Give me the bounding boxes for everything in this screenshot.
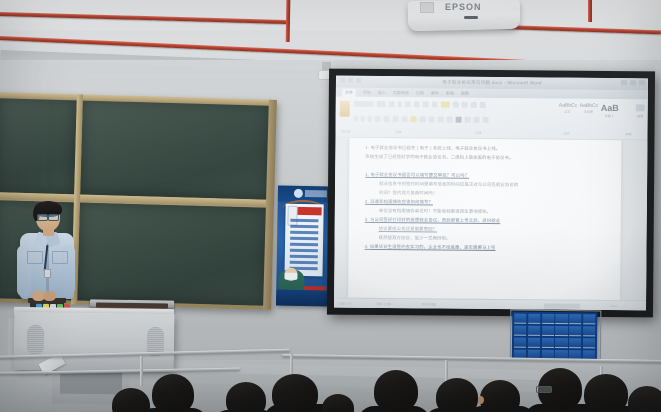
poster-line xyxy=(290,225,318,228)
status-word-count: 字数: 1,286 xyxy=(376,302,391,306)
blackboard-panel xyxy=(77,203,268,306)
poster-clipboard-icon xyxy=(287,206,297,226)
restore-icon[interactable] xyxy=(630,80,636,85)
window-controls[interactable] xyxy=(621,80,645,85)
board-cell xyxy=(541,338,553,349)
minimize-icon[interactable] xyxy=(621,80,627,85)
sprinkler-pipe-vertical xyxy=(588,0,592,22)
doc-heading-text: 派遣和档案接收应该如何填写？ xyxy=(370,199,433,205)
student-head xyxy=(152,374,194,412)
style-heading-1[interactable]: AaB 标题 1 xyxy=(601,103,618,118)
shading-icon[interactable] xyxy=(474,117,480,123)
numbering-icon[interactable] xyxy=(423,101,429,107)
board-cell xyxy=(555,314,567,325)
board-cell xyxy=(542,314,554,325)
poster-title-band xyxy=(298,207,322,215)
board-cell xyxy=(555,326,567,337)
doc-list-number: 1. xyxy=(365,172,369,177)
status-page-info: 页面: 1/3 xyxy=(339,302,351,306)
poster-line xyxy=(290,249,318,252)
poster-logo-icon xyxy=(294,189,303,198)
poster-footer xyxy=(276,290,328,307)
text-highlight-icon[interactable] xyxy=(411,116,417,122)
format-group-row[interactable] xyxy=(354,116,489,123)
tab-view[interactable]: 视图 xyxy=(461,90,469,96)
student-head xyxy=(272,374,318,412)
ribbon[interactable]: AaBbCc 正文 AaBbCc 无间隔 AaB 标题 1 xyxy=(335,97,647,141)
superscript-icon[interactable] xyxy=(393,116,399,122)
jacket-pocket xyxy=(52,251,68,264)
line-spacing-icon[interactable] xyxy=(465,117,471,123)
group-label-paragraph: 段落 xyxy=(476,131,482,135)
student-head xyxy=(436,378,478,412)
board-cell xyxy=(583,338,595,349)
bullets-icon[interactable] xyxy=(414,101,420,107)
view-buttons[interactable] xyxy=(544,303,580,308)
editing-group[interactable]: 编辑 xyxy=(636,104,645,118)
student-head xyxy=(628,386,661,412)
redo-icon[interactable] xyxy=(356,78,361,83)
quick-access-toolbar[interactable] xyxy=(340,78,361,83)
face-mask-icon xyxy=(284,273,297,280)
sprinkler-pipe-vertical xyxy=(286,0,291,42)
projection-screen: 电子就业协议常见问题.docx - Microsoft Word 文件 开始 插… xyxy=(327,69,655,318)
student-head xyxy=(584,374,628,412)
doc-list-number: 3. xyxy=(365,217,369,222)
projector-lens-icon xyxy=(464,16,478,19)
prevention-poster xyxy=(276,186,330,307)
multilevel-list-icon[interactable] xyxy=(432,101,438,107)
font-name-box[interactable] xyxy=(354,101,374,107)
tab-references[interactable]: 引用 xyxy=(416,90,424,96)
board-cell xyxy=(514,337,526,348)
strikethrough-icon[interactable] xyxy=(375,116,381,122)
highlight-color-icon[interactable] xyxy=(441,102,450,108)
doc-heading: 4. 如果毕业生没签约去实习的，企业也不给盖章，是否需要马上签 xyxy=(364,242,604,253)
change-case-icon[interactable] xyxy=(405,101,411,107)
tab-home[interactable]: 开始 xyxy=(363,89,371,95)
paste-icon[interactable] xyxy=(340,101,350,117)
board-cell xyxy=(542,326,554,337)
poster-line xyxy=(290,255,318,258)
board-cell xyxy=(514,314,526,325)
board-cell xyxy=(569,314,581,325)
italic-icon[interactable] xyxy=(361,116,365,122)
student-ear xyxy=(478,396,484,404)
group-label-font: 字体 xyxy=(396,130,402,134)
align-center-icon[interactable] xyxy=(438,117,444,123)
align-left-icon[interactable] xyxy=(429,116,435,122)
poster-line xyxy=(290,243,318,246)
decrease-indent-icon[interactable] xyxy=(453,102,459,108)
poster-line xyxy=(290,219,318,222)
increase-indent-icon[interactable] xyxy=(462,102,468,108)
poster-org-label xyxy=(305,190,327,197)
glasses-bridge xyxy=(46,216,49,217)
student-head xyxy=(322,394,354,412)
board-cell xyxy=(569,338,581,349)
board-cell xyxy=(583,314,595,325)
presenter-hand xyxy=(43,291,56,301)
doc-list-number: 2. xyxy=(365,199,369,204)
blackboard-panel xyxy=(80,99,271,200)
student-head xyxy=(226,382,266,412)
status-bar[interactable]: 页面: 1/3 字数: 1,286 中文(中国) 100% xyxy=(334,298,646,311)
editing-label: 编辑 xyxy=(637,114,643,118)
status-language: 中文(中国) xyxy=(422,302,436,306)
subscript-icon[interactable] xyxy=(384,116,390,122)
font-color-icon[interactable] xyxy=(420,116,426,122)
doc-heading-text: 电子就业协议书是否可以填写要交审批？可以吗？ xyxy=(370,172,469,178)
show-marks-icon[interactable] xyxy=(480,102,486,108)
classroom-scene: EPSON xyxy=(0,0,661,412)
student-head xyxy=(480,380,520,412)
board-cell xyxy=(528,338,540,349)
poster-line xyxy=(290,237,318,240)
tab-insert[interactable]: 插入 xyxy=(378,90,386,96)
student-head xyxy=(112,388,150,412)
projection-surface: 电子就业协议常见问题.docx - Microsoft Word 文件 开始 插… xyxy=(334,76,648,311)
doc-heading-text: 与公司签好打印好的纸质就业协议，然后邮寄上传之后，这份就业 xyxy=(370,217,500,223)
doc-list-number: 4. xyxy=(365,244,369,249)
align-right-icon[interactable] xyxy=(447,117,453,123)
board-cell xyxy=(569,326,581,337)
board-cell xyxy=(583,326,595,337)
poster-line xyxy=(290,231,318,234)
style-normal[interactable]: AaBbCc 正文 xyxy=(559,103,576,114)
tab-page-layout[interactable]: 页面布局 xyxy=(393,90,409,96)
group-label-clipboard: 剪贴板 xyxy=(342,130,351,134)
student-head xyxy=(374,370,418,412)
doc-heading-text: 如果毕业生没签约去实习的，企业也不给盖章，是否需要马上签 xyxy=(370,244,496,250)
sort-icon[interactable] xyxy=(471,102,477,108)
glasses-icon xyxy=(536,386,552,393)
document-page[interactable]: 1. 电子就业协议书已经在 ( 电子 ) 系统上线，电子就业协议书上线。 系统生… xyxy=(348,138,621,300)
borders-icon[interactable] xyxy=(483,117,489,123)
board-cell xyxy=(555,338,567,349)
find-icon[interactable] xyxy=(636,104,645,111)
font-group-row[interactable] xyxy=(354,101,486,108)
shrink-font-icon[interactable] xyxy=(398,101,402,107)
id-badge xyxy=(44,269,51,278)
group-label-styles: 样式 xyxy=(564,132,570,136)
projector-logo-icon xyxy=(420,2,434,13)
board-cell xyxy=(514,325,526,336)
document-area[interactable]: 1. 电子就业协议书已经在 ( 电子 ) 系统上线，电子就业协议书上线。 系统生… xyxy=(334,138,647,301)
audience xyxy=(0,360,661,412)
blackboard-panel xyxy=(0,96,77,194)
window-title: 电子就业协议常见问题.docx - Microsoft Word xyxy=(442,80,542,87)
status-zoom[interactable]: 100% xyxy=(610,304,618,308)
font-size-box[interactable] xyxy=(377,101,386,107)
save-icon[interactable] xyxy=(340,78,345,83)
tab-file[interactable]: 文件 xyxy=(342,88,356,96)
glasses-icon xyxy=(48,214,59,221)
style-no-spacing[interactable]: AaBbCc 无间隔 xyxy=(580,103,597,114)
board-cell xyxy=(528,326,540,337)
styles-gallery[interactable]: AaBbCc 正文 AaBbCc 无间隔 AaB 标题 1 xyxy=(559,103,618,119)
projector-brand-label: EPSON xyxy=(445,2,515,14)
poster-line xyxy=(290,261,318,264)
lectern-speaker-grille xyxy=(27,325,44,355)
justify-icon[interactable] xyxy=(456,117,462,123)
undo-icon[interactable] xyxy=(348,78,353,83)
word-window[interactable]: 电子就业协议常见问题.docx - Microsoft Word 文件 开始 插… xyxy=(334,76,648,311)
board-cell xyxy=(528,314,540,325)
group-label-editing: 编辑 xyxy=(626,132,632,136)
grow-font-icon[interactable] xyxy=(389,101,395,107)
tab-review[interactable]: 审阅 xyxy=(446,90,454,96)
tab-mailings[interactable]: 邮件 xyxy=(431,90,439,96)
bold-icon[interactable] xyxy=(354,116,358,122)
jacket-pocket xyxy=(27,251,43,264)
text-effects-icon[interactable] xyxy=(402,116,408,122)
underline-icon[interactable] xyxy=(368,116,372,122)
close-icon[interactable] xyxy=(639,80,645,85)
